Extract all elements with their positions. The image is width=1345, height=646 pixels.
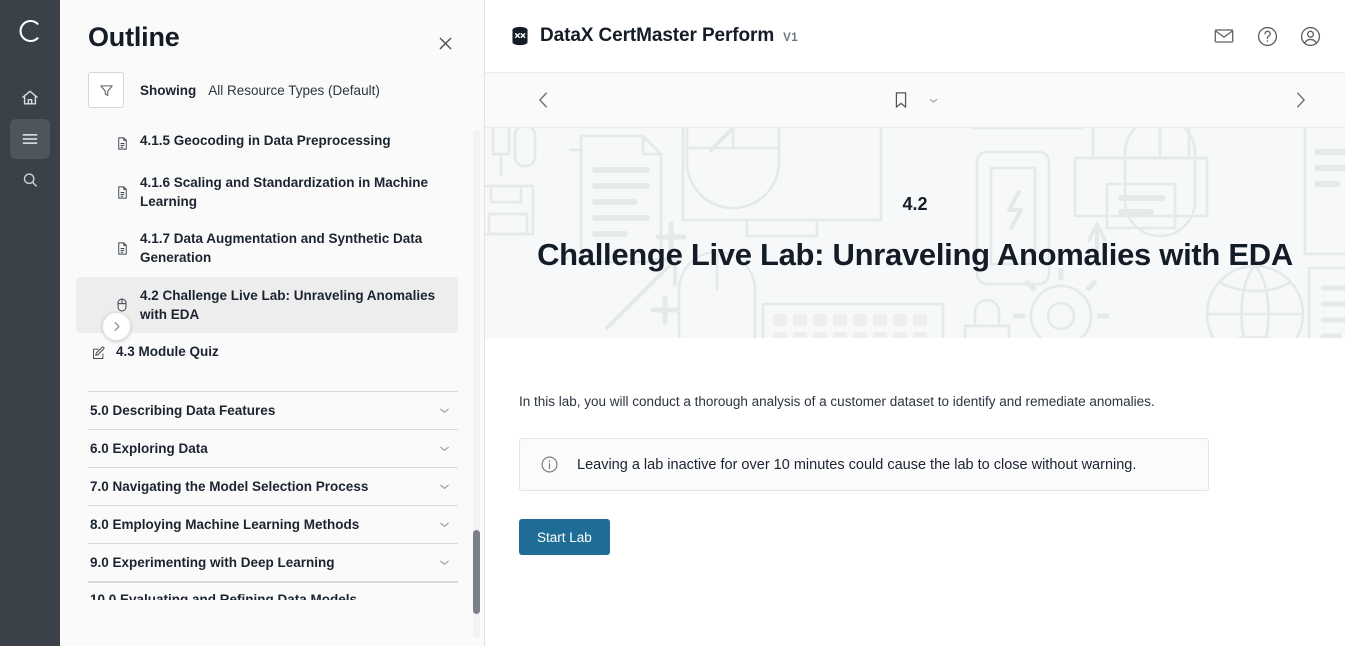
list-item[interactable]: 4.3 Module Quiz — [76, 333, 458, 375]
header-actions — [1211, 23, 1323, 49]
lesson-body: In this lab, you will conduct a thorough… — [485, 338, 1345, 646]
outline-section-label: 10.0 Evaluating and Refining Data Models — [90, 592, 357, 600]
brand-version: V1 — [783, 32, 798, 44]
outline-section-10-clipped[interactable]: 10.0 Evaluating and Refining Data Models — [60, 582, 484, 600]
list-item[interactable]: 4.1.7 Data Augmentation and Synthetic Da… — [76, 220, 458, 276]
circle-c-logo[interactable] — [13, 14, 47, 48]
brand[interactable]: DataX CertMaster Perform V1 — [509, 25, 798, 47]
close-icon[interactable] — [430, 28, 460, 58]
panel-collapse-toggle[interactable] — [102, 312, 131, 341]
tech-pattern-background — [485, 128, 1345, 338]
outline-section-6[interactable]: 6.0 Exploring Data — [88, 429, 458, 467]
start-lab-button[interactable]: Start Lab — [519, 519, 610, 555]
previous-page-button[interactable] — [533, 89, 555, 111]
lesson-title: Challenge Live Lab: Unraveling Anomalies… — [537, 237, 1293, 273]
chevron-down-icon[interactable] — [437, 517, 452, 532]
list-item-label: 4.1.5 Geocoding in Data Preprocessing — [110, 131, 391, 150]
user-circle-icon[interactable] — [1297, 23, 1323, 49]
help-circle-icon[interactable] — [1254, 23, 1280, 49]
outline-section-label: 9.0 Experimenting with Deep Learning — [90, 555, 335, 570]
document-icon — [114, 184, 130, 200]
chevron-down-icon[interactable] — [437, 479, 452, 494]
rail-item-search[interactable] — [10, 160, 50, 200]
lab-description: In this lab, you will conduct a thorough… — [519, 392, 1311, 412]
outline-scrollbar-thumb[interactable] — [473, 530, 480, 614]
chevron-down-icon[interactable] — [437, 555, 452, 570]
filter-showing-label: Showing — [140, 83, 196, 98]
mouse-icon — [114, 297, 130, 313]
rail-item-outline[interactable] — [10, 119, 50, 159]
list-item-label: 4.1.6 Scaling and Standardization in Mac… — [110, 173, 446, 211]
lesson-navbar — [485, 73, 1345, 128]
chevron-down-icon[interactable] — [437, 441, 452, 456]
navbar-center — [891, 89, 940, 111]
main-content: DataX CertMaster Perform V1 — [485, 0, 1345, 646]
database-logo — [509, 25, 531, 47]
app-root: Outline Showing All Resource Types (Defa… — [0, 0, 1345, 646]
rail-item-home[interactable] — [10, 78, 50, 118]
lesson-number: 4.2 — [902, 194, 927, 215]
brand-name: DataX CertMaster Perform — [540, 25, 774, 47]
list-item[interactable]: 4.1.6 Scaling and Standardization in Mac… — [76, 164, 458, 220]
chevron-down-icon[interactable] — [927, 94, 940, 107]
document-icon — [114, 240, 130, 256]
pencil-icon — [90, 346, 106, 362]
outline-sections: 5.0 Describing Data Features 6.0 Explori… — [60, 391, 484, 582]
outline-panel: Outline Showing All Resource Types (Defa… — [60, 0, 485, 646]
bookmark-icon[interactable] — [891, 89, 911, 111]
outline-scroll-region: 4.1.4 Handling Missing Data 4.1.5 Geocod… — [60, 120, 484, 646]
outline-section-9[interactable]: 9.0 Experimenting with Deep Learning — [88, 543, 458, 582]
app-header: DataX CertMaster Perform V1 — [485, 0, 1345, 73]
lesson-banner: 4.2 Challenge Live Lab: Unraveling Anoma… — [485, 128, 1345, 338]
filter-icon[interactable] — [88, 72, 124, 108]
inactivity-notice: Leaving a lab inactive for over 10 minut… — [519, 438, 1209, 491]
icon-rail — [0, 0, 60, 646]
filter-row: Showing All Resource Types (Default) — [60, 58, 484, 120]
page-title: Outline — [88, 22, 180, 53]
inactivity-notice-text: Leaving a lab inactive for over 10 minut… — [577, 457, 1136, 473]
list-item-label: 4.2 Challenge Live Lab: Unraveling Anoma… — [110, 286, 446, 324]
list-item-label: 4.1.7 Data Augmentation and Synthetic Da… — [110, 229, 446, 267]
outline-section-label: 7.0 Navigating the Model Selection Proce… — [90, 479, 368, 494]
next-page-button[interactable] — [1289, 89, 1311, 111]
filter-value[interactable]: All Resource Types (Default) — [208, 83, 380, 98]
mail-icon[interactable] — [1211, 23, 1237, 49]
document-icon — [114, 135, 130, 151]
outline-section-label: 8.0 Employing Machine Learning Methods — [90, 517, 359, 532]
list-item[interactable]: 4.1.5 Geocoding in Data Preprocessing — [76, 122, 458, 164]
info-circle-icon — [540, 455, 560, 474]
outline-header: Outline — [60, 0, 484, 58]
list-item-selected[interactable]: 4.2 Challenge Live Lab: Unraveling Anoma… — [76, 277, 458, 333]
chevron-down-icon[interactable] — [437, 403, 452, 418]
outline-section-label: 6.0 Exploring Data — [90, 441, 208, 456]
outline-section-5[interactable]: 5.0 Describing Data Features — [88, 391, 458, 429]
outline-section-8[interactable]: 8.0 Employing Machine Learning Methods — [88, 505, 458, 543]
outline-section-label: 5.0 Describing Data Features — [90, 403, 275, 418]
outline-section-7[interactable]: 7.0 Navigating the Model Selection Proce… — [88, 467, 458, 505]
